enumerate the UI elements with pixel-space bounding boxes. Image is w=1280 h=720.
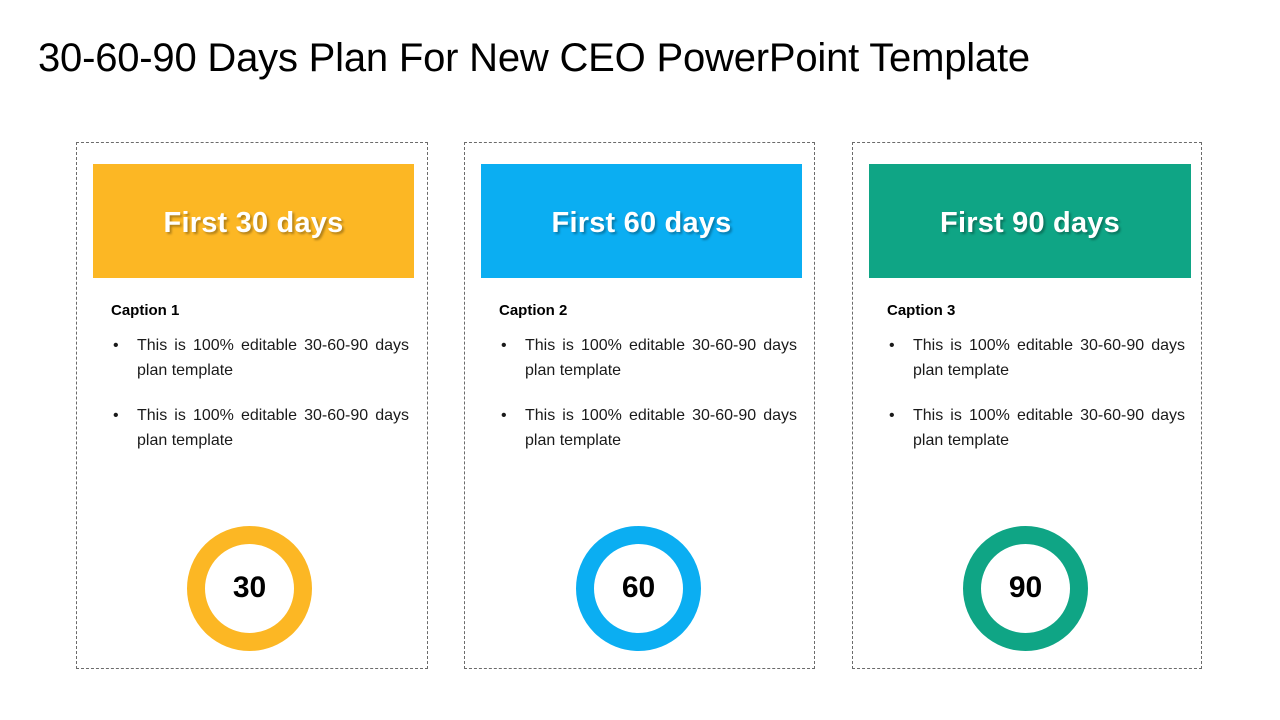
bullet-dot-icon: • bbox=[109, 333, 137, 358]
bullet-list: • This is 100% editable 30-60-90 days pl… bbox=[885, 333, 1185, 473]
plan-column-30-days: First 30 days Caption 1 • This is 100% e… bbox=[76, 142, 428, 669]
bullet-text: This is 100% editable 30-60-90 days plan… bbox=[525, 403, 797, 453]
bullet-dot-icon: • bbox=[885, 333, 913, 358]
list-item: • This is 100% editable 30-60-90 days pl… bbox=[885, 403, 1185, 453]
column-header-bar-60: First 60 days bbox=[481, 164, 802, 278]
bullet-dot-icon: • bbox=[497, 333, 525, 358]
column-header-bar-30: First 30 days bbox=[93, 164, 414, 278]
column-header-label: First 30 days bbox=[164, 207, 344, 240]
list-item: • This is 100% editable 30-60-90 days pl… bbox=[109, 403, 409, 453]
list-item: • This is 100% editable 30-60-90 days pl… bbox=[497, 403, 797, 453]
list-item: • This is 100% editable 30-60-90 days pl… bbox=[885, 333, 1185, 383]
bullet-list: • This is 100% editable 30-60-90 days pl… bbox=[109, 333, 409, 473]
column-caption: Caption 2 bbox=[499, 302, 567, 319]
bullet-text: This is 100% editable 30-60-90 days plan… bbox=[137, 403, 409, 453]
bullet-dot-icon: • bbox=[497, 403, 525, 428]
day-badge-90: 90 bbox=[963, 526, 1088, 651]
plan-column-60-days: First 60 days Caption 2 • This is 100% e… bbox=[464, 142, 815, 669]
column-caption: Caption 1 bbox=[111, 302, 179, 319]
bullet-text: This is 100% editable 30-60-90 days plan… bbox=[525, 333, 797, 383]
bullet-text: This is 100% editable 30-60-90 days plan… bbox=[913, 333, 1185, 383]
column-caption: Caption 3 bbox=[887, 302, 955, 319]
day-badge-30: 30 bbox=[187, 526, 312, 651]
page-title: 30-60-90 Days Plan For New CEO PowerPoin… bbox=[38, 36, 1248, 80]
column-header-label: First 90 days bbox=[940, 207, 1120, 240]
bullet-dot-icon: • bbox=[885, 403, 913, 428]
badge-number: 30 bbox=[233, 573, 266, 603]
plan-column-90-days: First 90 days Caption 3 • This is 100% e… bbox=[852, 142, 1202, 669]
column-header-label: First 60 days bbox=[552, 207, 732, 240]
day-badge-60: 60 bbox=[576, 526, 701, 651]
list-item: • This is 100% editable 30-60-90 days pl… bbox=[109, 333, 409, 383]
list-item: • This is 100% editable 30-60-90 days pl… bbox=[497, 333, 797, 383]
bullet-dot-icon: • bbox=[109, 403, 137, 428]
bullet-text: This is 100% editable 30-60-90 days plan… bbox=[913, 403, 1185, 453]
bullet-text: This is 100% editable 30-60-90 days plan… bbox=[137, 333, 409, 383]
badge-number: 60 bbox=[622, 573, 655, 603]
slide-canvas: 30-60-90 Days Plan For New CEO PowerPoin… bbox=[0, 0, 1280, 720]
bullet-list: • This is 100% editable 30-60-90 days pl… bbox=[497, 333, 797, 473]
badge-number: 90 bbox=[1009, 573, 1042, 603]
column-header-bar-90: First 90 days bbox=[869, 164, 1191, 278]
